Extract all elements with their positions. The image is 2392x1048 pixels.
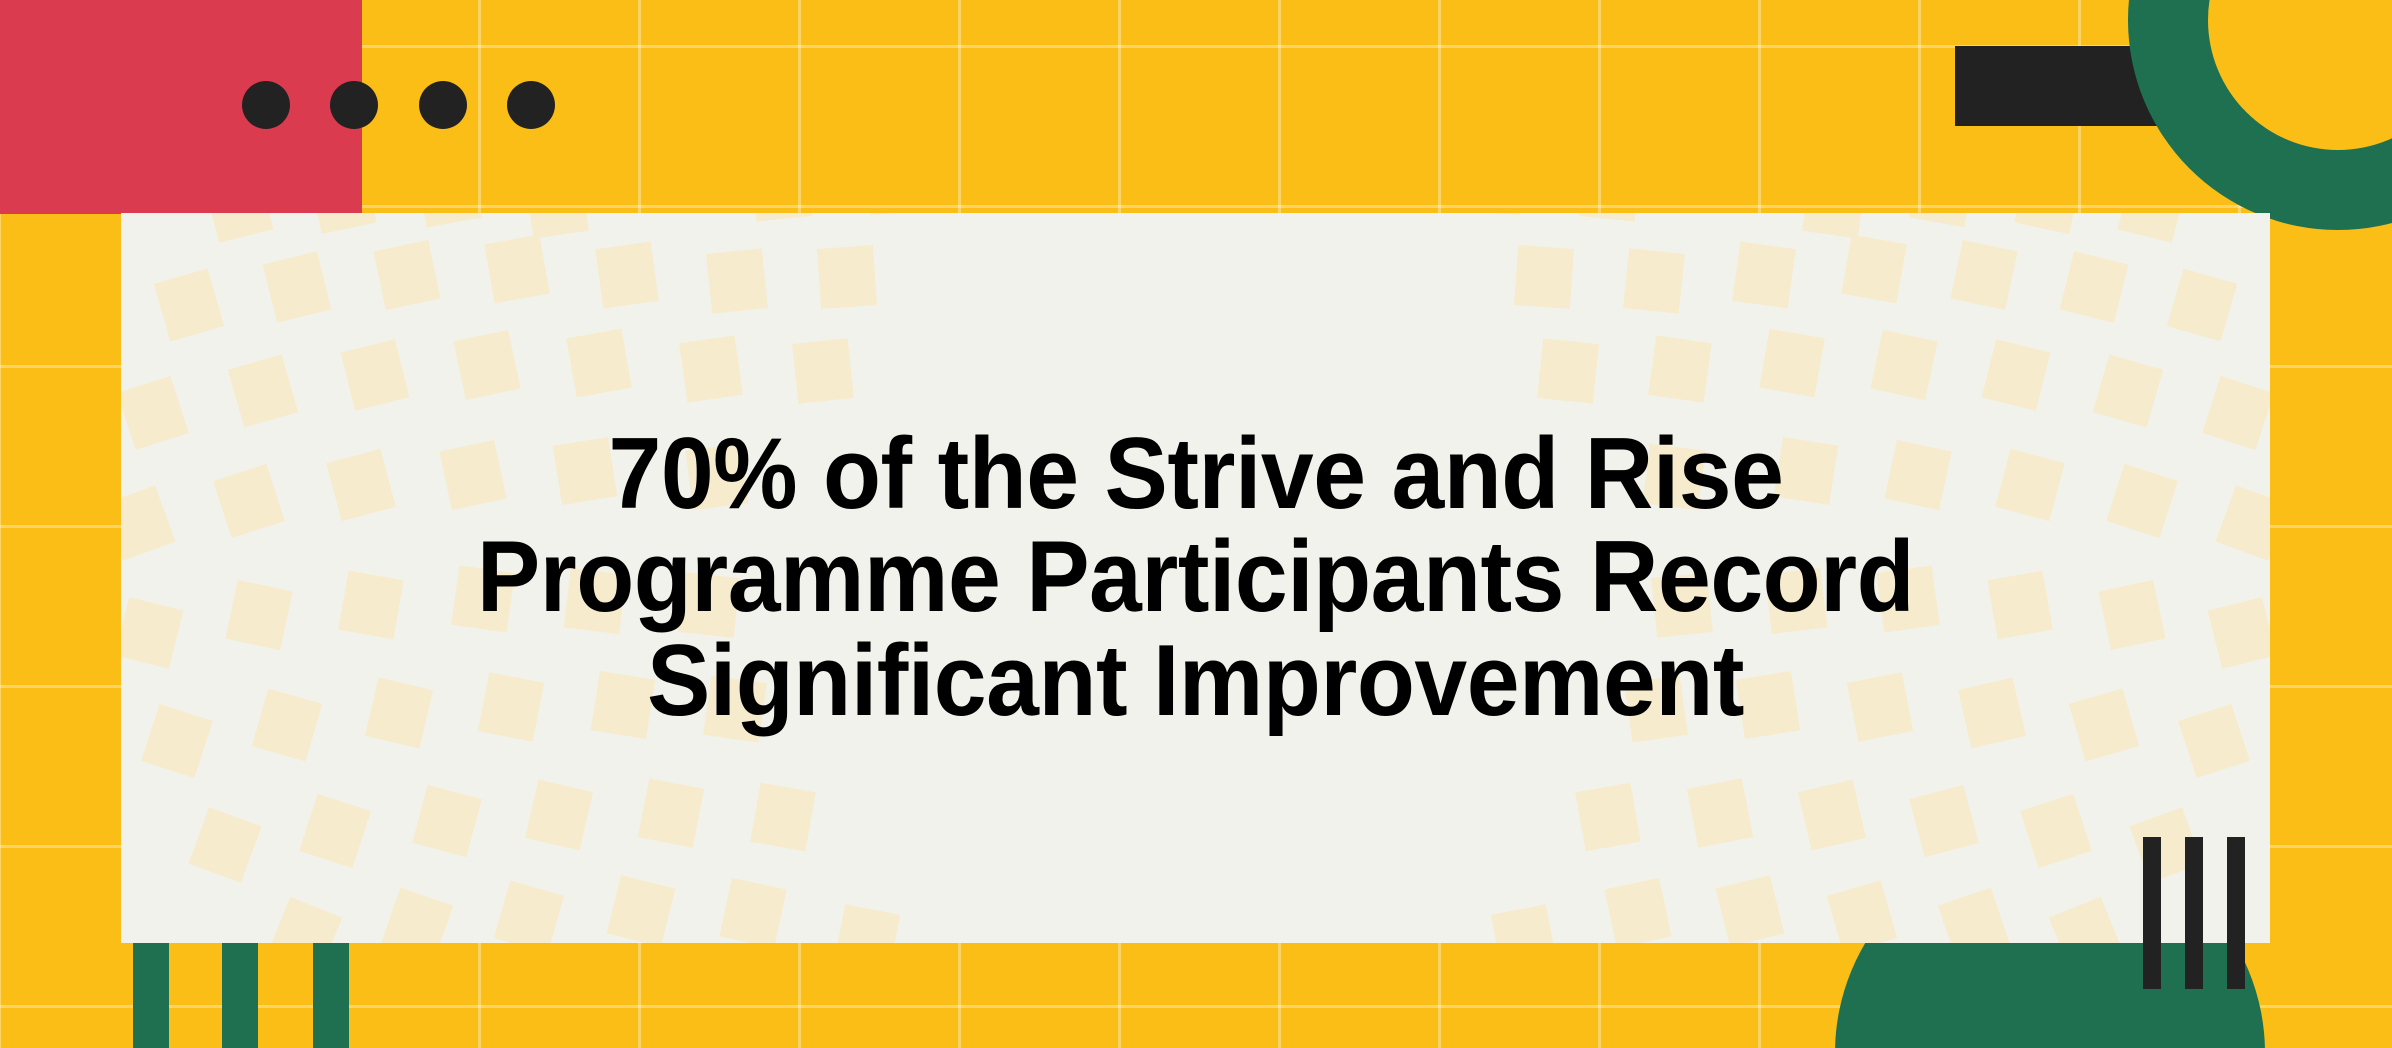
header-dot-4 — [507, 81, 555, 129]
headline-line-1: 70% of the Strive and Rise — [608, 423, 1783, 526]
headline-line-3: Significant Improvement — [647, 630, 1744, 733]
red-accent-block — [0, 0, 362, 214]
header-dot-3 — [419, 81, 467, 129]
header-dot-2 — [330, 81, 378, 129]
headline-block: 70% of the Strive and Rise Programme Par… — [121, 213, 2270, 943]
poster-canvas: 70% of the Strive and Rise Programme Par… — [0, 0, 2392, 1048]
header-dot-1 — [242, 81, 290, 129]
headline-line-2: Programme Participants Record — [477, 526, 1914, 629]
headline-card: 70% of the Strive and Rise Programme Par… — [121, 213, 2270, 943]
